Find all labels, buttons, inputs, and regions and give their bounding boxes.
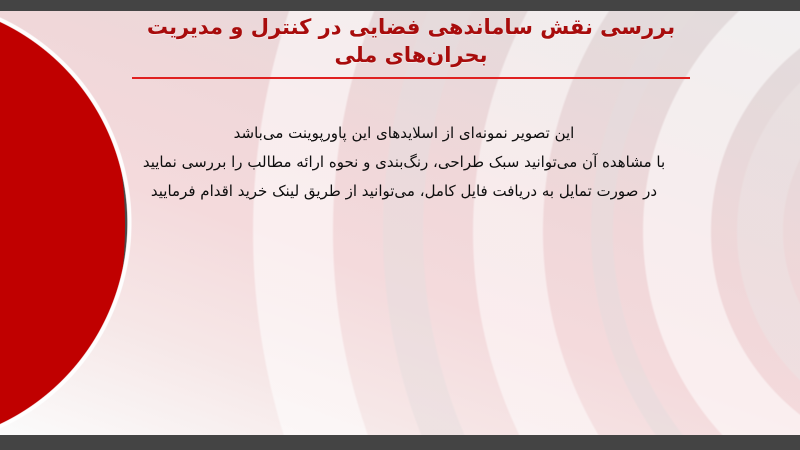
- body-line-1: این تصویر نمونه‌ای از اسلایدهای این پاور…: [140, 122, 668, 145]
- presentation-slide: بررسی نقش ساماندهی فضایی در کنترل و مدیر…: [0, 0, 800, 450]
- slide-frame-top-band: [0, 0, 800, 11]
- title-underline-rule: [132, 77, 690, 79]
- slide-frame-bottom-band: [0, 435, 800, 450]
- body-line-3: در صورت تمایل به دریافت فایل کامل، می‌تو…: [140, 180, 668, 203]
- slide-title: بررسی نقش ساماندهی فضایی در کنترل و مدیر…: [132, 14, 690, 70]
- slide-body-block: این تصویر نمونه‌ای از اسلایدهای این پاور…: [140, 122, 668, 202]
- slide-title-block: بررسی نقش ساماندهی فضایی در کنترل و مدیر…: [132, 14, 690, 79]
- body-line-2: با مشاهده آن می‌توانید سبک طراحی، رنگ‌بن…: [140, 151, 668, 174]
